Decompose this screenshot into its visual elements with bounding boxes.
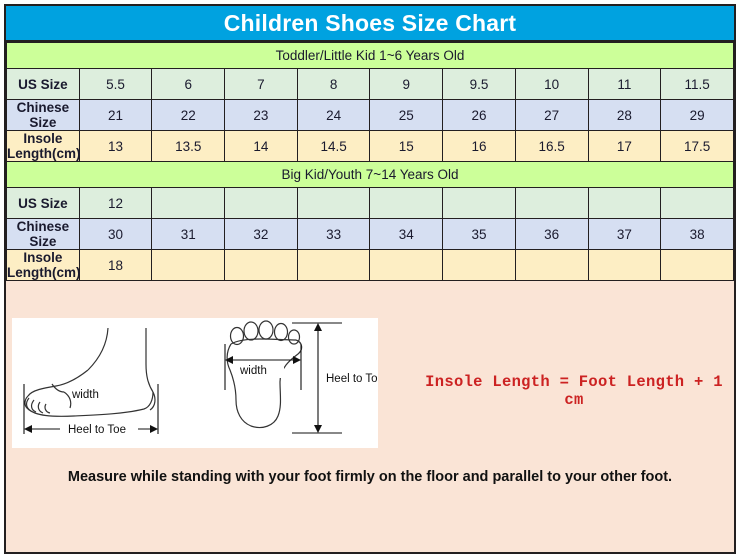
chart-frame: Children Shoes Size Chart Toddler/Little… <box>4 4 736 554</box>
table-cell: 21 <box>79 100 152 131</box>
table-row: Insole Length(cm)1313.51414.5151616.5171… <box>7 131 734 162</box>
table-cell: 34 <box>370 219 443 250</box>
table-cell <box>297 250 370 281</box>
section-heading: Toddler/Little Kid 1~6 Years Old <box>7 43 734 69</box>
table-row: US Size12 <box>7 188 734 219</box>
table-cell: 28 <box>588 100 661 131</box>
sole-width-label: width <box>239 365 267 377</box>
sole-arrow-left <box>225 356 233 364</box>
table-cell <box>588 188 661 219</box>
sole-arrow-up <box>314 323 322 331</box>
table-cell <box>588 250 661 281</box>
insole-formula: Insole Length = Foot Length + 1 cm <box>414 373 734 409</box>
table-cell: 35 <box>443 219 516 250</box>
table-cell: 14.5 <box>297 131 370 162</box>
table-cell <box>443 188 516 219</box>
row-label: Chinese Size <box>7 219 80 250</box>
side-view-foot-icon <box>25 328 155 416</box>
table-cell <box>370 188 443 219</box>
table-cell: 9.5 <box>443 69 516 100</box>
foot-measurement-diagram: width Heel to Toe <box>12 318 378 448</box>
table-cell: 23 <box>225 100 298 131</box>
table-cell <box>297 188 370 219</box>
table-cell: 30 <box>79 219 152 250</box>
table-cell: 31 <box>152 219 225 250</box>
sole-arrow-right <box>293 356 301 364</box>
table-cell: 15 <box>370 131 443 162</box>
row-label: Insole Length(cm) <box>7 131 80 162</box>
table-cell: 18 <box>79 250 152 281</box>
table-cell: 11.5 <box>661 69 734 100</box>
table-cell <box>225 188 298 219</box>
table-row: Chinese Size212223242526272829 <box>7 100 734 131</box>
measurement-footnote: Measure while standing with your foot fi… <box>6 469 734 485</box>
table-cell: 13 <box>79 131 152 162</box>
table-cell: 13.5 <box>152 131 225 162</box>
size-table: Toddler/Little Kid 1~6 Years OldUS Size5… <box>6 42 734 281</box>
table-cell: 24 <box>297 100 370 131</box>
table-cell <box>152 250 225 281</box>
table-cell: 5.5 <box>79 69 152 100</box>
table-cell: 14 <box>225 131 298 162</box>
table-cell: 32 <box>225 219 298 250</box>
table-cell: 25 <box>370 100 443 131</box>
table-cell: 9 <box>370 69 443 100</box>
row-label: US Size <box>7 69 80 100</box>
table-cell: 10 <box>515 69 588 100</box>
section-heading: Big Kid/Youth 7~14 Years Old <box>7 162 734 188</box>
row-label: Chinese Size <box>7 100 80 131</box>
table-cell: 6 <box>152 69 225 100</box>
measurement-panel: width Heel to Toe <box>6 281 734 552</box>
section-heading-row: Toddler/Little Kid 1~6 Years Old <box>7 43 734 69</box>
table-cell: 11 <box>588 69 661 100</box>
side-length-label: Heel to Toe <box>68 424 126 436</box>
table-cell: 17 <box>588 131 661 162</box>
table-cell: 16.5 <box>515 131 588 162</box>
table-cell: 33 <box>297 219 370 250</box>
table-cell <box>515 188 588 219</box>
table-cell <box>661 250 734 281</box>
table-cell <box>152 188 225 219</box>
size-table-body: Toddler/Little Kid 1~6 Years OldUS Size5… <box>7 43 734 281</box>
table-cell: 16 <box>443 131 516 162</box>
table-cell: 29 <box>661 100 734 131</box>
row-label: Insole Length(cm) <box>7 250 80 281</box>
table-cell <box>225 250 298 281</box>
table-cell: 26 <box>443 100 516 131</box>
table-row: Insole Length(cm)18 <box>7 250 734 281</box>
section-heading-row: Big Kid/Youth 7~14 Years Old <box>7 162 734 188</box>
sole-arrow-down <box>314 425 322 433</box>
chart-title: Children Shoes Size Chart <box>6 6 734 42</box>
table-row: Chinese Size303132333435363738 <box>7 219 734 250</box>
table-cell <box>370 250 443 281</box>
table-cell: 8 <box>297 69 370 100</box>
table-cell: 22 <box>152 100 225 131</box>
foot-diagram-svg: width Heel to Toe <box>12 318 378 448</box>
table-cell: 27 <box>515 100 588 131</box>
table-cell <box>515 250 588 281</box>
table-cell: 37 <box>588 219 661 250</box>
side-arrow-left <box>24 425 32 433</box>
side-arrow-right <box>150 425 158 433</box>
table-cell <box>661 188 734 219</box>
table-cell: 17.5 <box>661 131 734 162</box>
table-cell <box>443 250 516 281</box>
side-width-label: width <box>71 389 99 401</box>
size-chart-image: Children Shoes Size Chart Toddler/Little… <box>0 0 740 558</box>
row-label: US Size <box>7 188 80 219</box>
sole-length-label: Heel to Toe <box>326 373 378 385</box>
table-cell: 12 <box>79 188 152 219</box>
table-row: US Size5.567899.5101111.5 <box>7 69 734 100</box>
table-cell: 36 <box>515 219 588 250</box>
table-cell: 7 <box>225 69 298 100</box>
table-cell: 38 <box>661 219 734 250</box>
